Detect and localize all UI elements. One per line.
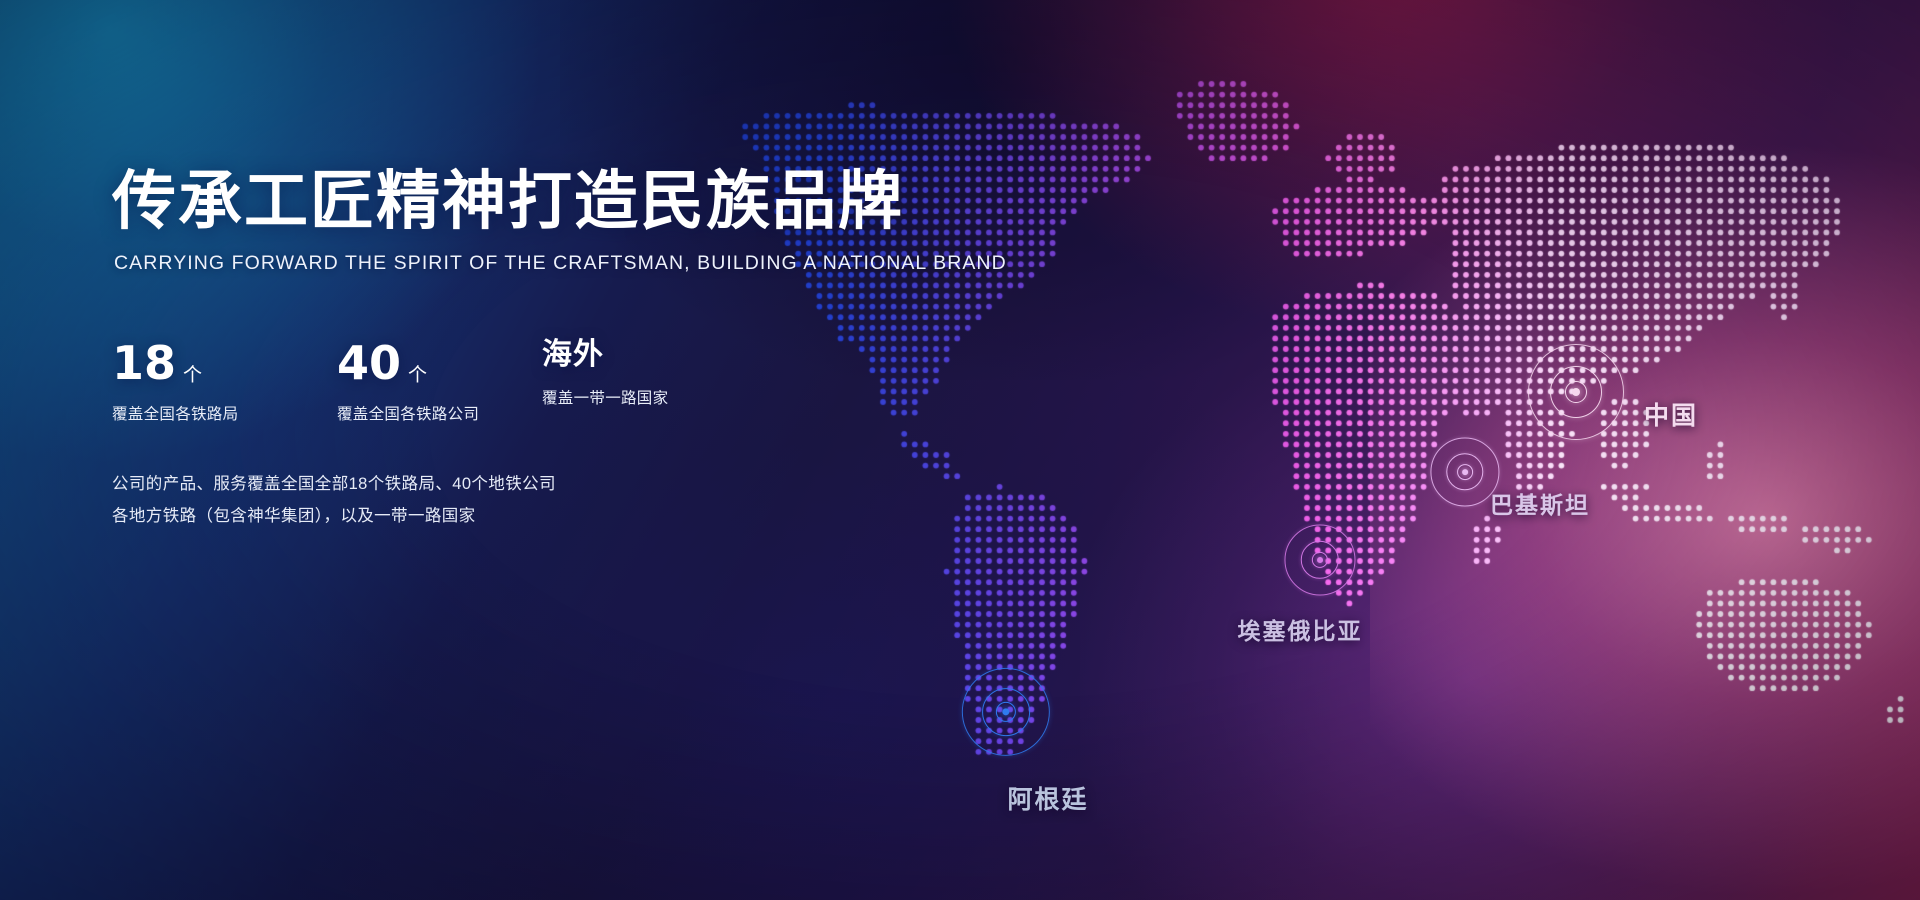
- body-copy-line-1: 公司的产品、服务覆盖全国全部18个铁路局、40个地铁公司: [112, 468, 556, 500]
- stat-value-row: 18个: [112, 340, 238, 386]
- stat-value-row: 40个: [337, 340, 479, 386]
- stat-item-3: 海外覆盖一带一路国家: [542, 340, 668, 408]
- map-marker-label-argentina: 阿根廷: [1007, 780, 1088, 816]
- stat-label: 覆盖一带一路国家: [542, 386, 668, 408]
- marker-center-dot: [1572, 388, 1580, 396]
- stat-value: 海外: [542, 340, 604, 370]
- map-marker-label-pakistan: 巴基斯坦: [1490, 486, 1590, 520]
- page-title: 传承工匠精神打造民族品牌: [112, 170, 904, 234]
- dotted-world-map: [0, 0, 1920, 900]
- page-subtitle: CARRYING FORWARD THE SPIRIT OF THE CRAFT…: [114, 252, 1007, 275]
- stat-value: 18: [112, 340, 176, 386]
- stat-item-1: 18个覆盖全国各铁路局: [112, 340, 238, 424]
- stat-label: 覆盖全国各铁路局: [112, 402, 238, 424]
- marker-center-dot: [1317, 557, 1323, 563]
- stat-value-row: 海外: [542, 340, 668, 370]
- stat-label: 覆盖全国各铁路公司: [337, 402, 479, 424]
- marker-center-dot: [1462, 469, 1468, 475]
- map-marker-label-china: 中国: [1644, 396, 1698, 432]
- stat-value: 40: [337, 340, 401, 386]
- body-copy-line-2: 各地方铁路（包含神华集团），以及一带一路国家: [112, 500, 556, 532]
- hero-banner: 中国巴基斯坦埃塞俄比亚阿根廷 传承工匠精神打造民族品牌 CARRYING FOR…: [0, 0, 1920, 900]
- stat-item-2: 40个覆盖全国各铁路公司: [337, 340, 479, 424]
- body-copy: 公司的产品、服务覆盖全国全部18个铁路局、40个地铁公司 各地方铁路（包含神华集…: [112, 468, 556, 532]
- stat-unit: 个: [183, 360, 202, 387]
- stat-unit: 个: [408, 360, 427, 387]
- map-marker-label-ethiopia: 埃塞俄比亚: [1238, 612, 1363, 646]
